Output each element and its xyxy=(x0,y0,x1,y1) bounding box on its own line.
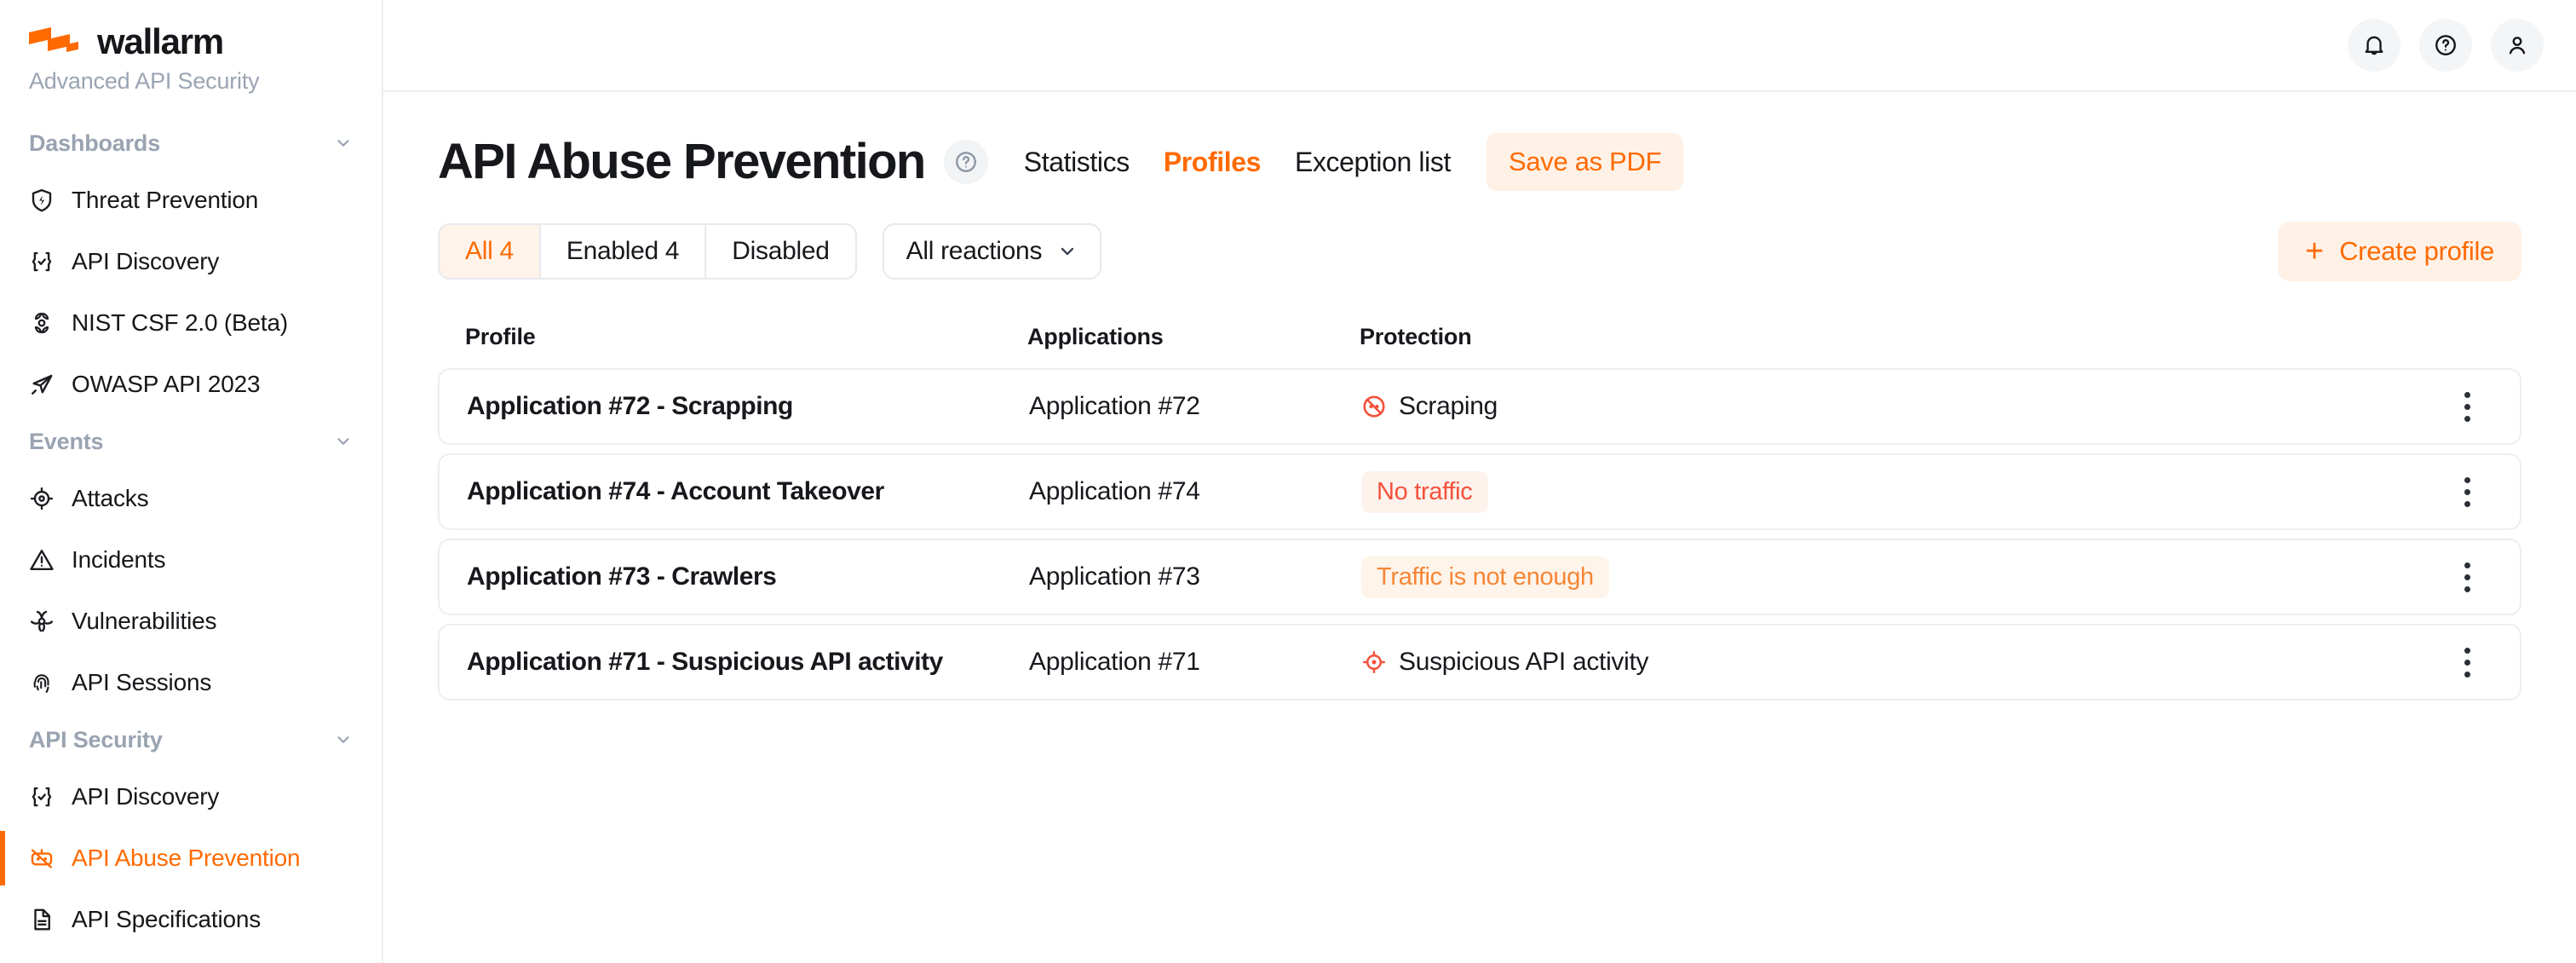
table-row[interactable]: Application #71 - Suspicious API activit… xyxy=(438,624,2521,701)
status-badge: No traffic xyxy=(1361,471,1488,513)
sidebar-item-incidents[interactable]: Incidents xyxy=(0,529,382,591)
sidebar-item-label: API Sessions xyxy=(72,669,211,696)
chevron-down-icon[interactable] xyxy=(334,134,353,153)
kebab-menu-icon xyxy=(2464,392,2470,398)
sidebar-group-dashboards[interactable]: Dashboards xyxy=(0,117,382,170)
sidebar-item-api-discovery-dashboard[interactable]: API Discovery xyxy=(0,231,382,292)
paper-plane-icon xyxy=(29,372,55,397)
profiles-table: Profile Applications Protection Applicat… xyxy=(383,317,2576,701)
fingerprint-icon xyxy=(29,670,55,695)
row-protection: Scraping xyxy=(1361,392,2441,421)
sidebar-item-attacks[interactable]: Attacks xyxy=(0,468,382,529)
row-protection-label: Suspicious API activity xyxy=(1399,648,1648,677)
sidebar-group-api-security[interactable]: API Security xyxy=(0,713,382,766)
page-tabs: Statistics Profiles Exception list xyxy=(1007,147,1468,178)
row-profile-name: Application #72 - Scrapping xyxy=(467,392,1029,421)
tab-profiles[interactable]: Profiles xyxy=(1147,147,1278,178)
row-actions-menu[interactable] xyxy=(2441,466,2493,517)
sidebar-item-label: Vulnerabilities xyxy=(72,608,216,635)
row-application: Application #71 xyxy=(1029,648,1361,677)
sidebar-item-vulnerabilities[interactable]: Vulnerabilities xyxy=(0,591,382,652)
row-profile-name: Application #74 - Account Takeover xyxy=(467,477,1029,506)
table-row[interactable]: Application #72 - Scrapping Application … xyxy=(438,368,2521,445)
sidebar-item-api-discovery[interactable]: API Discovery xyxy=(0,766,382,827)
sidebar-item-threat-prevention[interactable]: Threat Prevention xyxy=(0,170,382,231)
sidebar-item-label: NIST CSF 2.0 (Beta) xyxy=(72,309,288,337)
user-icon xyxy=(2504,32,2530,58)
row-actions-menu[interactable] xyxy=(2441,637,2493,688)
document-lines-icon xyxy=(29,907,55,932)
notifications-button[interactable] xyxy=(2348,19,2401,72)
topbar xyxy=(383,0,2576,92)
sidebar-item-label: API Discovery xyxy=(72,783,219,810)
reactions-dropdown-value: All reactions xyxy=(906,237,1043,266)
tab-exception-list[interactable]: Exception list xyxy=(1278,147,1468,178)
chevron-down-icon xyxy=(1057,241,1078,262)
create-profile-label: Create profile xyxy=(2339,236,2494,267)
page-title: API Abuse Prevention xyxy=(438,137,925,187)
question-circle-icon xyxy=(953,149,979,175)
row-protection-label: Scraping xyxy=(1399,392,1498,421)
table-row[interactable]: Application #74 - Account Takeover Appli… xyxy=(438,453,2521,530)
sidebar-item-api-sessions[interactable]: API Sessions xyxy=(0,652,382,713)
filter-enabled[interactable]: Enabled 4 xyxy=(541,225,706,278)
row-application: Application #73 xyxy=(1029,562,1361,591)
row-protection: No traffic xyxy=(1361,471,2441,513)
filter-bar: All 4 Enabled 4 Disabled All reactions +… xyxy=(383,191,2576,281)
row-application: Application #72 xyxy=(1029,392,1361,421)
sidebar-item-label: API Discovery xyxy=(72,248,219,275)
nist-petals-icon xyxy=(29,310,55,336)
sidebar-item-label: Incidents xyxy=(72,546,165,574)
kebab-menu-icon xyxy=(2464,477,2470,483)
wallarm-logo-icon xyxy=(29,27,85,56)
page-help-button[interactable] xyxy=(944,140,988,184)
sidebar-item-api-abuse-prevention[interactable]: API Abuse Prevention xyxy=(0,827,382,889)
tab-statistics[interactable]: Statistics xyxy=(1007,147,1147,178)
table-header: Profile Applications Protection xyxy=(438,317,2521,356)
status-badge: Traffic is not enough xyxy=(1361,556,1609,598)
app-root: wallarm Advanced API Security Dashboards… xyxy=(0,0,2576,963)
account-button[interactable] xyxy=(2491,19,2544,72)
sidebar: wallarm Advanced API Security Dashboards… xyxy=(0,0,383,963)
brand-name: wallarm xyxy=(97,24,223,60)
warning-triangle-icon xyxy=(29,547,55,573)
table-row[interactable]: Application #73 - Crawlers Application #… xyxy=(438,539,2521,615)
sidebar-group-events[interactable]: Events xyxy=(0,415,382,468)
chevron-down-icon[interactable] xyxy=(334,730,353,749)
help-button[interactable] xyxy=(2419,19,2472,72)
row-application: Application #74 xyxy=(1029,477,1361,506)
sidebar-nav: Dashboards Threat Prevention API Discove… xyxy=(0,117,382,950)
sidebar-group-title: Dashboards xyxy=(29,130,160,157)
sidebar-item-label: API Specifications xyxy=(72,906,261,933)
sidebar-item-label: Threat Prevention xyxy=(72,187,258,214)
page-header: API Abuse Prevention Statistics Profiles… xyxy=(383,92,2576,191)
table-body: Application #72 - Scrapping Application … xyxy=(438,368,2521,701)
row-profile-name: Application #73 - Crawlers xyxy=(467,562,1029,591)
create-profile-button[interactable]: + Create profile xyxy=(2278,222,2521,281)
biohazard-icon xyxy=(29,608,55,634)
status-filter-group: All 4 Enabled 4 Disabled xyxy=(438,223,857,280)
kebab-menu-icon xyxy=(2464,562,2470,568)
robot-blocked-icon xyxy=(1361,394,1387,419)
sidebar-item-owasp-api[interactable]: OWASP API 2023 xyxy=(0,354,382,415)
sidebar-item-api-specifications[interactable]: API Specifications xyxy=(0,889,382,950)
row-protection: Traffic is not enough xyxy=(1361,556,2441,598)
sidebar-item-label: Attacks xyxy=(72,485,148,512)
filter-all[interactable]: All 4 xyxy=(440,225,541,278)
column-header-profile: Profile xyxy=(465,324,1027,350)
save-as-pdf-button[interactable]: Save as PDF xyxy=(1486,133,1683,191)
robot-blocked-icon xyxy=(29,845,55,871)
main-area: API Abuse Prevention Statistics Profiles… xyxy=(383,0,2576,963)
question-circle-icon xyxy=(2433,32,2458,58)
braces-check-icon xyxy=(29,784,55,810)
row-actions-menu[interactable] xyxy=(2441,551,2493,603)
column-header-applications: Applications xyxy=(1027,324,1360,350)
sidebar-item-label: OWASP API 2023 xyxy=(72,371,260,398)
crosshair-icon xyxy=(1361,649,1387,675)
braces-check-icon xyxy=(29,249,55,274)
shield-bolt-icon xyxy=(29,187,55,213)
bell-icon xyxy=(2361,32,2387,58)
column-header-protection: Protection xyxy=(1360,324,2443,350)
sidebar-group-title: Events xyxy=(29,429,103,455)
brand[interactable]: wallarm Advanced API Security xyxy=(0,24,382,95)
row-protection: Suspicious API activity xyxy=(1361,648,2441,677)
crosshair-icon xyxy=(29,486,55,511)
sidebar-item-nist-csf[interactable]: NIST CSF 2.0 (Beta) xyxy=(0,292,382,354)
plus-icon: + xyxy=(2305,235,2324,268)
brand-tagline: Advanced API Security xyxy=(29,68,353,95)
reactions-dropdown[interactable]: All reactions xyxy=(883,223,1102,280)
kebab-menu-icon xyxy=(2464,648,2470,654)
sidebar-group-title: API Security xyxy=(29,727,163,753)
sidebar-item-label: API Abuse Prevention xyxy=(72,845,300,872)
row-profile-name: Application #71 - Suspicious API activit… xyxy=(467,648,1029,677)
chevron-down-icon[interactable] xyxy=(334,432,353,451)
row-actions-menu[interactable] xyxy=(2441,381,2493,432)
filter-disabled[interactable]: Disabled xyxy=(706,225,854,278)
